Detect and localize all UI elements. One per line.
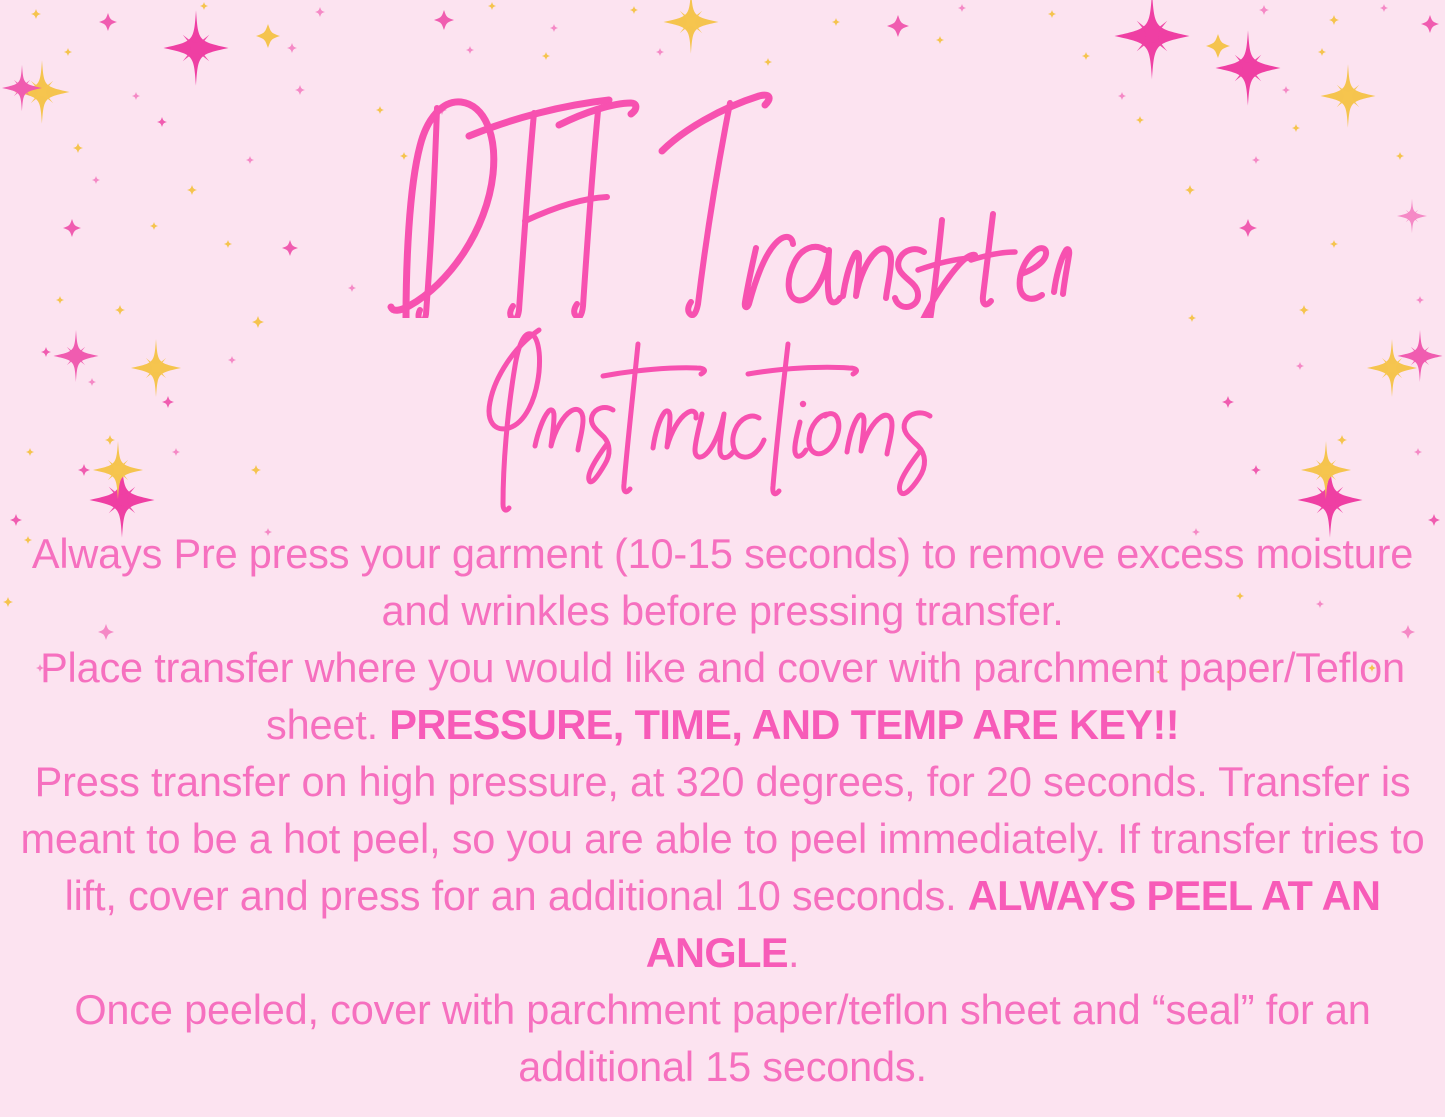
- sparkle-four-point-icon: [1118, 92, 1126, 100]
- sparkle-four-point-icon: [1396, 152, 1404, 160]
- sparkle-four-point-icon: [252, 316, 264, 328]
- sparkle-four-point-icon: [1414, 448, 1422, 456]
- sparkle-eight-point-icon: [1301, 441, 1351, 499]
- body-text: Once peeled, cover with parchment paper/…: [74, 986, 1370, 1090]
- sparkle-four-point-icon: [1337, 435, 1347, 445]
- sparkle-four-point-icon: [832, 18, 840, 26]
- sparkle-eight-point-icon: [15, 60, 70, 124]
- sparkle-four-point-icon: [1188, 314, 1196, 322]
- sparkle-four-point-icon: [1329, 15, 1339, 25]
- paragraph-placement: Place transfer where you would like and …: [14, 639, 1431, 753]
- sparkle-four-point-icon: [466, 46, 474, 54]
- sparkle-four-point-icon: [488, 2, 496, 10]
- sparkle-four-point-icon: [958, 4, 966, 12]
- sparkle-four-point-icon: [115, 305, 125, 315]
- title-line-instructions: [0, 318, 1445, 518]
- sparkle-four-point-icon: [224, 240, 232, 248]
- sparkle-four-point-icon: [1318, 48, 1326, 56]
- sparkle-four-point-icon: [1239, 219, 1257, 237]
- sparkle-four-point-icon: [656, 48, 664, 56]
- sparkle-eight-point-icon: [1115, 0, 1190, 80]
- sparkle-four-point-icon: [550, 24, 558, 32]
- sparkle-four-point-icon: [150, 222, 158, 230]
- sparkle-four-point-icon: [41, 347, 51, 357]
- title-line-dtf-transfer: [0, 78, 1445, 318]
- sparkle-eight-point-icon: [1216, 30, 1281, 105]
- sparkle-eight-point-icon: [131, 339, 181, 397]
- sparkle-four-point-icon: [200, 2, 208, 10]
- sparkle-four-point-icon: [56, 296, 64, 304]
- sparkle-four-point-icon: [78, 464, 90, 476]
- sparkle-four-point-icon: [63, 219, 81, 237]
- emphasis-text: PRESSURE, TIME, AND TEMP ARE KEY!!: [389, 701, 1179, 748]
- sparkle-four-point-icon: [1299, 305, 1309, 315]
- sparkle-four-point-icon: [282, 240, 298, 256]
- sparkle-four-point-icon: [256, 24, 280, 48]
- sparkle-four-point-icon: [1206, 34, 1230, 58]
- sparkle-four-point-icon: [437, 105, 447, 115]
- sparkle-four-point-icon: [246, 156, 254, 164]
- sparkle-eight-point-icon: [1367, 339, 1417, 397]
- sparkle-four-point-icon: [251, 465, 261, 475]
- sparkle-four-point-icon: [105, 435, 115, 445]
- sparkle-four-point-icon: [1330, 240, 1338, 248]
- sparkle-eight-point-icon: [1397, 199, 1427, 234]
- sparkle-four-point-icon: [157, 117, 167, 127]
- sparkle-four-point-icon: [400, 152, 408, 160]
- sparkle-four-point-icon: [295, 85, 305, 95]
- sparkle-four-point-icon: [936, 36, 944, 44]
- sparkle-four-point-icon: [99, 13, 117, 31]
- instructions-body: Always Pre press your garment (10-15 sec…: [0, 525, 1445, 1095]
- sparkle-four-point-icon: [31, 9, 41, 19]
- title-line-instructions-glyphs: [443, 318, 1003, 518]
- sparkle-four-point-icon: [376, 106, 384, 114]
- sparkle-four-point-icon: [630, 6, 638, 14]
- sparkle-eight-point-icon: [1321, 64, 1376, 128]
- sparkle-four-point-icon: [73, 143, 83, 153]
- sparkle-eight-point-icon: [664, 0, 719, 54]
- sparkle-four-point-icon: [1292, 124, 1300, 132]
- sparkle-four-point-icon: [1259, 5, 1269, 15]
- sparkle-four-point-icon: [887, 15, 909, 37]
- sparkle-four-point-icon: [1251, 465, 1261, 475]
- instruction-poster: Always Pre press your garment (10-15 sec…: [0, 0, 1445, 1117]
- sparkle-four-point-icon: [132, 92, 140, 100]
- sparkle-four-point-icon: [1048, 10, 1056, 18]
- paragraph-pre-press: Always Pre press your garment (10-15 sec…: [14, 525, 1431, 639]
- poster-heading: [0, 78, 1445, 518]
- paragraph-seal: Once peeled, cover with parchment paper/…: [14, 981, 1431, 1095]
- sparkle-four-point-icon: [348, 284, 356, 292]
- paragraph-press-settings: Press transfer on high pressure, at 320 …: [14, 753, 1431, 981]
- sparkle-four-point-icon: [434, 10, 454, 30]
- sparkle-four-point-icon: [542, 52, 550, 60]
- sparkle-four-point-icon: [64, 48, 72, 56]
- sparkle-four-point-icon: [187, 185, 197, 195]
- sparkle-four-point-icon: [764, 58, 772, 66]
- sparkle-eight-point-icon: [2, 65, 42, 111]
- sparkle-four-point-icon: [1185, 185, 1195, 195]
- title-line-dtf-transfer-glyphs: [373, 78, 1073, 318]
- sparkle-four-point-icon: [228, 356, 236, 364]
- body-text: .: [788, 929, 799, 976]
- sparkle-four-point-icon: [162, 396, 174, 408]
- sparkle-four-point-icon: [1416, 296, 1424, 304]
- sparkle-four-point-icon: [1252, 156, 1260, 164]
- sparkle-eight-point-icon: [164, 10, 229, 85]
- sparkle-four-point-icon: [287, 43, 297, 53]
- sparkle-four-point-icon: [26, 448, 34, 456]
- sparkle-four-point-icon: [1296, 362, 1304, 370]
- sparkle-four-point-icon: [1380, 4, 1388, 12]
- sparkle-four-point-icon: [1282, 86, 1290, 94]
- sparkle-four-point-icon: [92, 176, 100, 184]
- sparkle-four-point-icon: [1421, 15, 1439, 33]
- sparkle-four-point-icon: [1082, 52, 1090, 60]
- sparkle-eight-point-icon: [1398, 330, 1443, 382]
- sparkle-four-point-icon: [1136, 116, 1144, 124]
- body-text: Always Pre press your garment (10-15 sec…: [32, 530, 1413, 634]
- sparkle-four-point-icon: [88, 378, 96, 386]
- sparkle-four-point-icon: [315, 7, 325, 17]
- sparkle-four-point-icon: [172, 448, 180, 456]
- sparkle-four-point-icon: [1222, 396, 1234, 408]
- sparkle-eight-point-icon: [54, 330, 99, 382]
- sparkle-eight-point-icon: [93, 441, 143, 499]
